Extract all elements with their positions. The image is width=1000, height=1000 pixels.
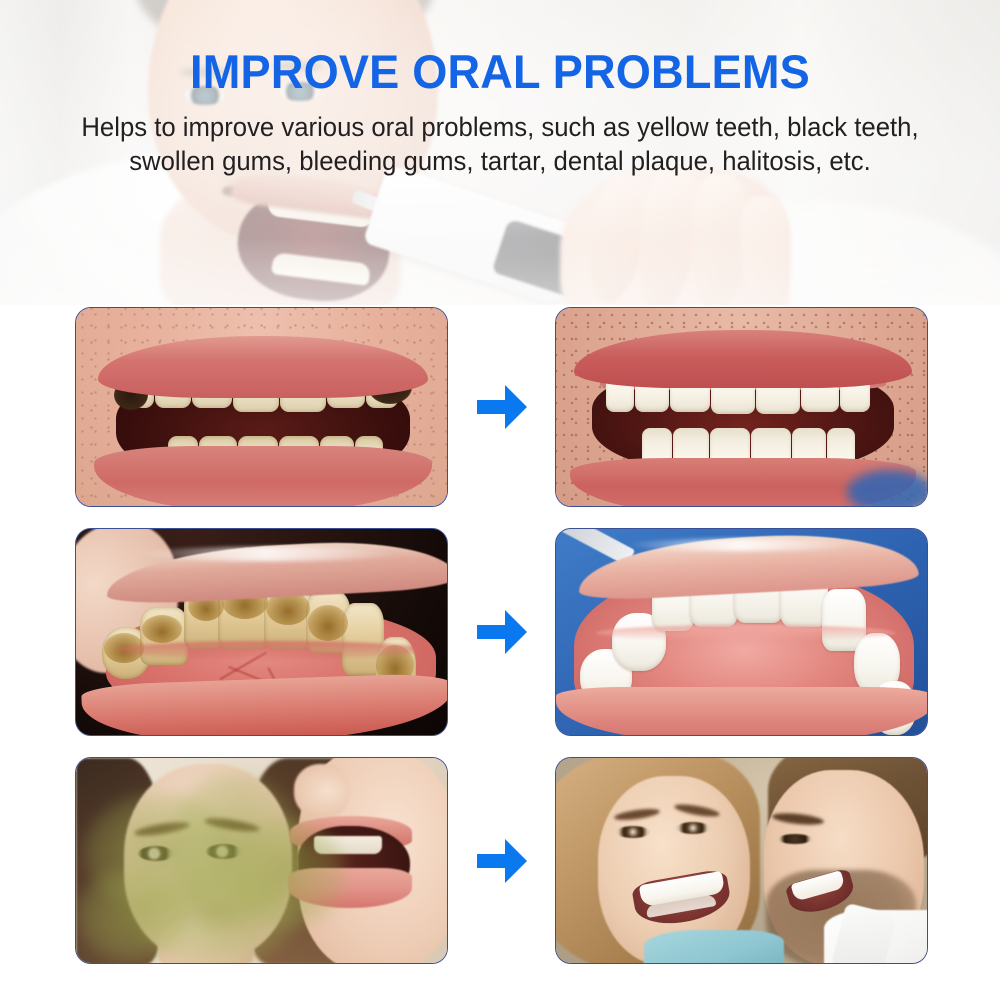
comparison-row-2 bbox=[0, 528, 1000, 736]
before-photo-bad-breath bbox=[76, 758, 447, 963]
after-card-row2 bbox=[555, 528, 928, 736]
after-photo-happy-couple bbox=[556, 758, 927, 963]
before-card-row2 bbox=[75, 528, 448, 736]
comparison-row-3 bbox=[0, 757, 1000, 964]
hero-banner: IMPROVE ORAL PROBLEMS Helps to improve v… bbox=[0, 0, 1000, 305]
woman-top-garment bbox=[644, 930, 784, 963]
lower-lip bbox=[94, 446, 432, 506]
tartar-deposit bbox=[308, 605, 348, 641]
swollen-gum-line bbox=[116, 641, 426, 659]
after-card-row1 bbox=[555, 307, 928, 507]
arrow-right-icon bbox=[475, 608, 529, 656]
lip-highlight bbox=[136, 547, 396, 561]
before-photo-tartar-buildup bbox=[76, 529, 447, 735]
man-eye bbox=[778, 834, 812, 844]
after-photo-white-teeth bbox=[556, 308, 927, 506]
before-card-row3 bbox=[75, 757, 448, 964]
healthy-gum-line bbox=[596, 625, 896, 641]
woman-eye-left bbox=[616, 826, 650, 838]
lip-highlight bbox=[626, 539, 856, 551]
lower-lip bbox=[556, 687, 927, 735]
arrow-row1 bbox=[448, 307, 555, 507]
arrow-right-icon bbox=[475, 383, 529, 431]
woman-eye-right bbox=[676, 822, 710, 834]
blue-background-corner bbox=[847, 470, 927, 506]
comparison-row-1 bbox=[0, 307, 1000, 507]
before-card-row1 bbox=[75, 307, 448, 507]
bad-breath-cloud bbox=[76, 868, 186, 963]
man-nose bbox=[294, 764, 350, 818]
arrow-row3 bbox=[448, 757, 555, 964]
hero-text-block: IMPROVE ORAL PROBLEMS Helps to improve v… bbox=[0, 0, 1000, 179]
page-title: IMPROVE ORAL PROBLEMS bbox=[20, 48, 980, 95]
after-card-row3 bbox=[555, 757, 928, 964]
arrow-row2 bbox=[448, 528, 555, 736]
arrow-right-icon bbox=[475, 837, 529, 885]
before-photo-stained-teeth bbox=[76, 308, 447, 506]
after-photo-healthy-arch bbox=[556, 529, 927, 735]
page-subtitle: Helps to improve various oral problems, … bbox=[73, 111, 927, 179]
bad-breath-cloud bbox=[226, 818, 346, 928]
tartar-deposit bbox=[142, 615, 182, 643]
